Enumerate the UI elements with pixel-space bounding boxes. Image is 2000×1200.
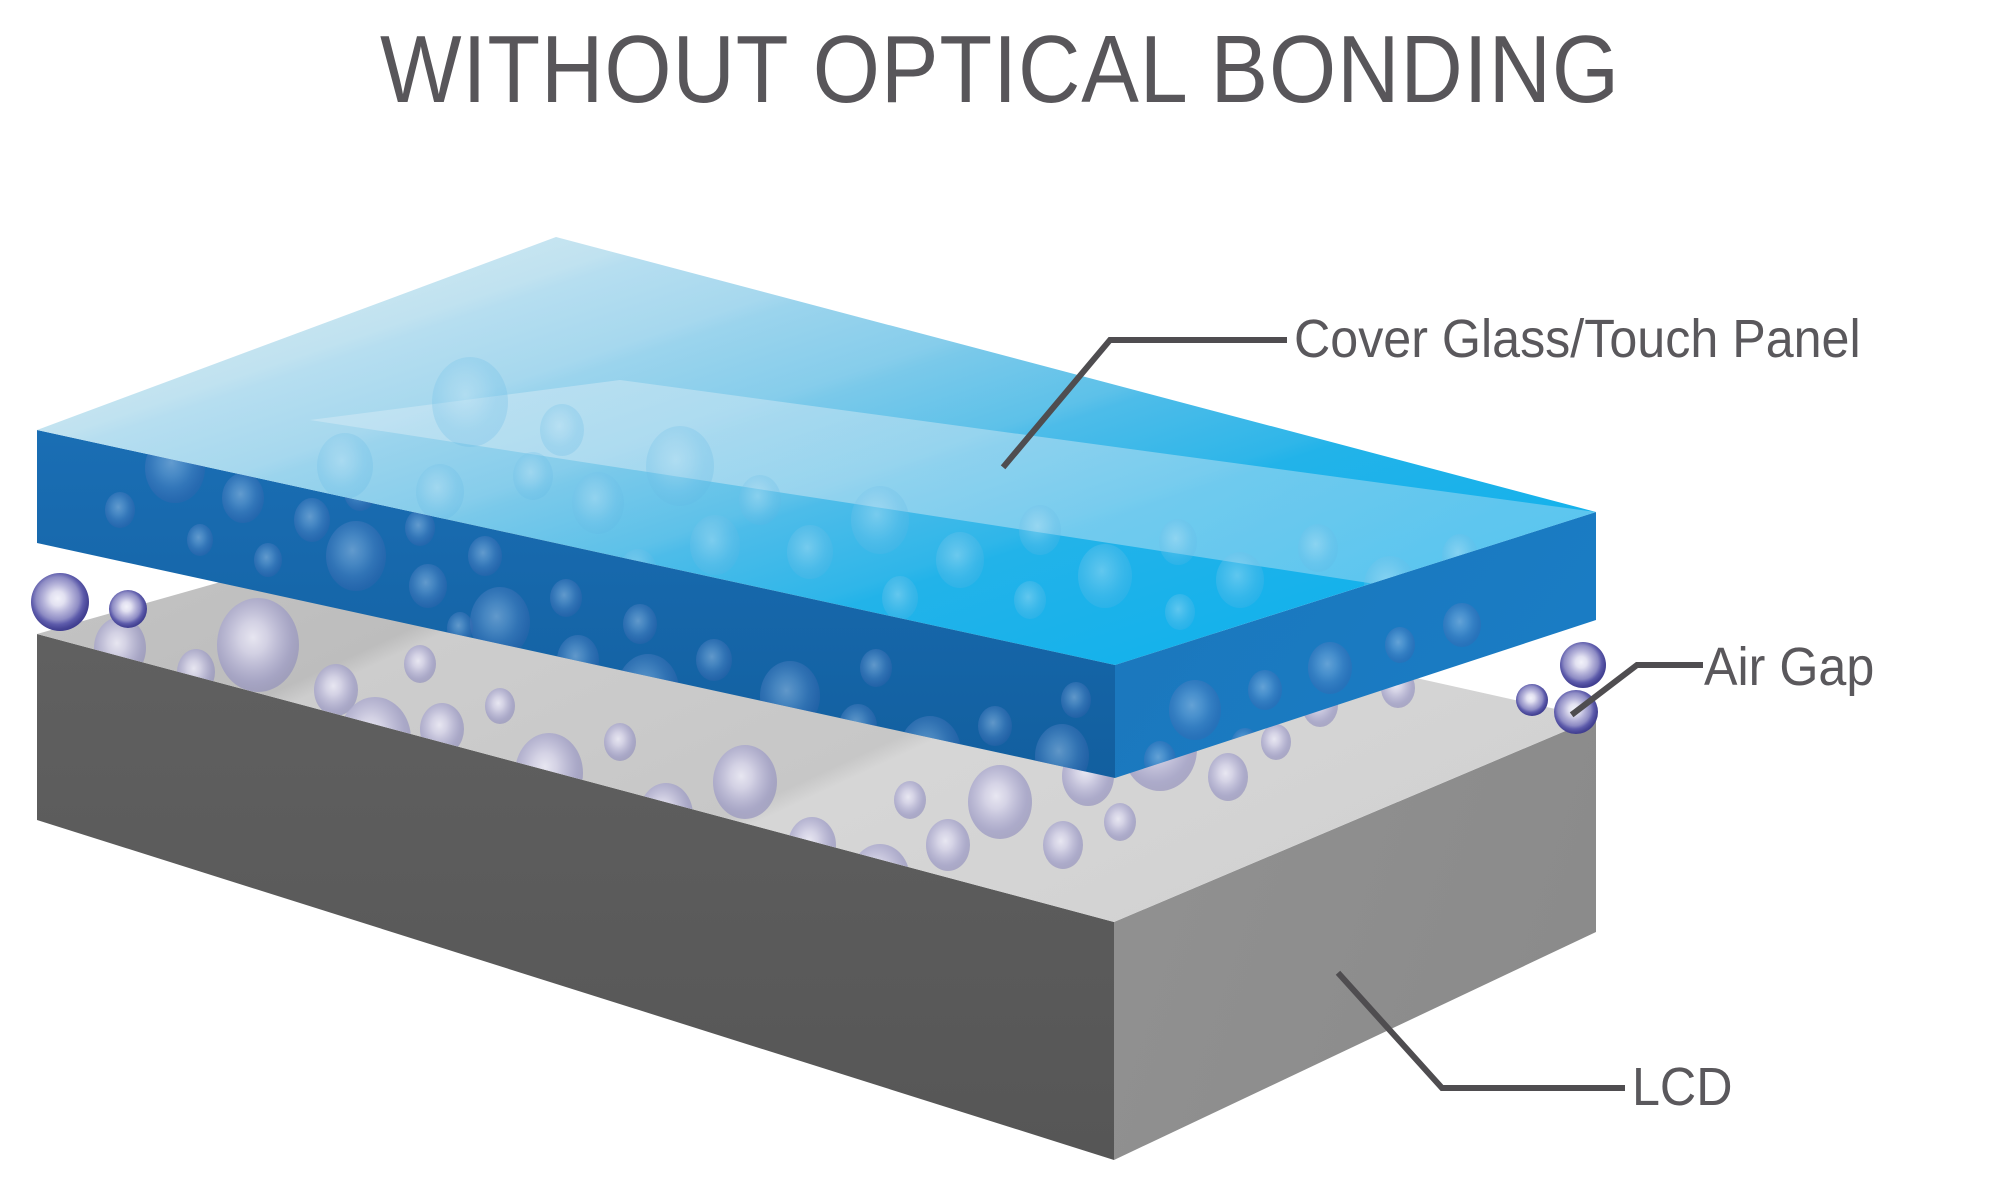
page-title: WITHOUT OPTICAL BONDING (100, 22, 1900, 118)
optical-bonding-illustration (0, 0, 2000, 1200)
label-air-gap: Air Gap (1704, 640, 1874, 694)
label-lcd: LCD (1632, 1060, 1732, 1114)
label-cover-glass: Cover Glass/Touch Panel (1294, 312, 1861, 366)
diagram-canvas: WITHOUT OPTICAL BONDING Cover Glass/Touc… (0, 0, 2000, 1200)
